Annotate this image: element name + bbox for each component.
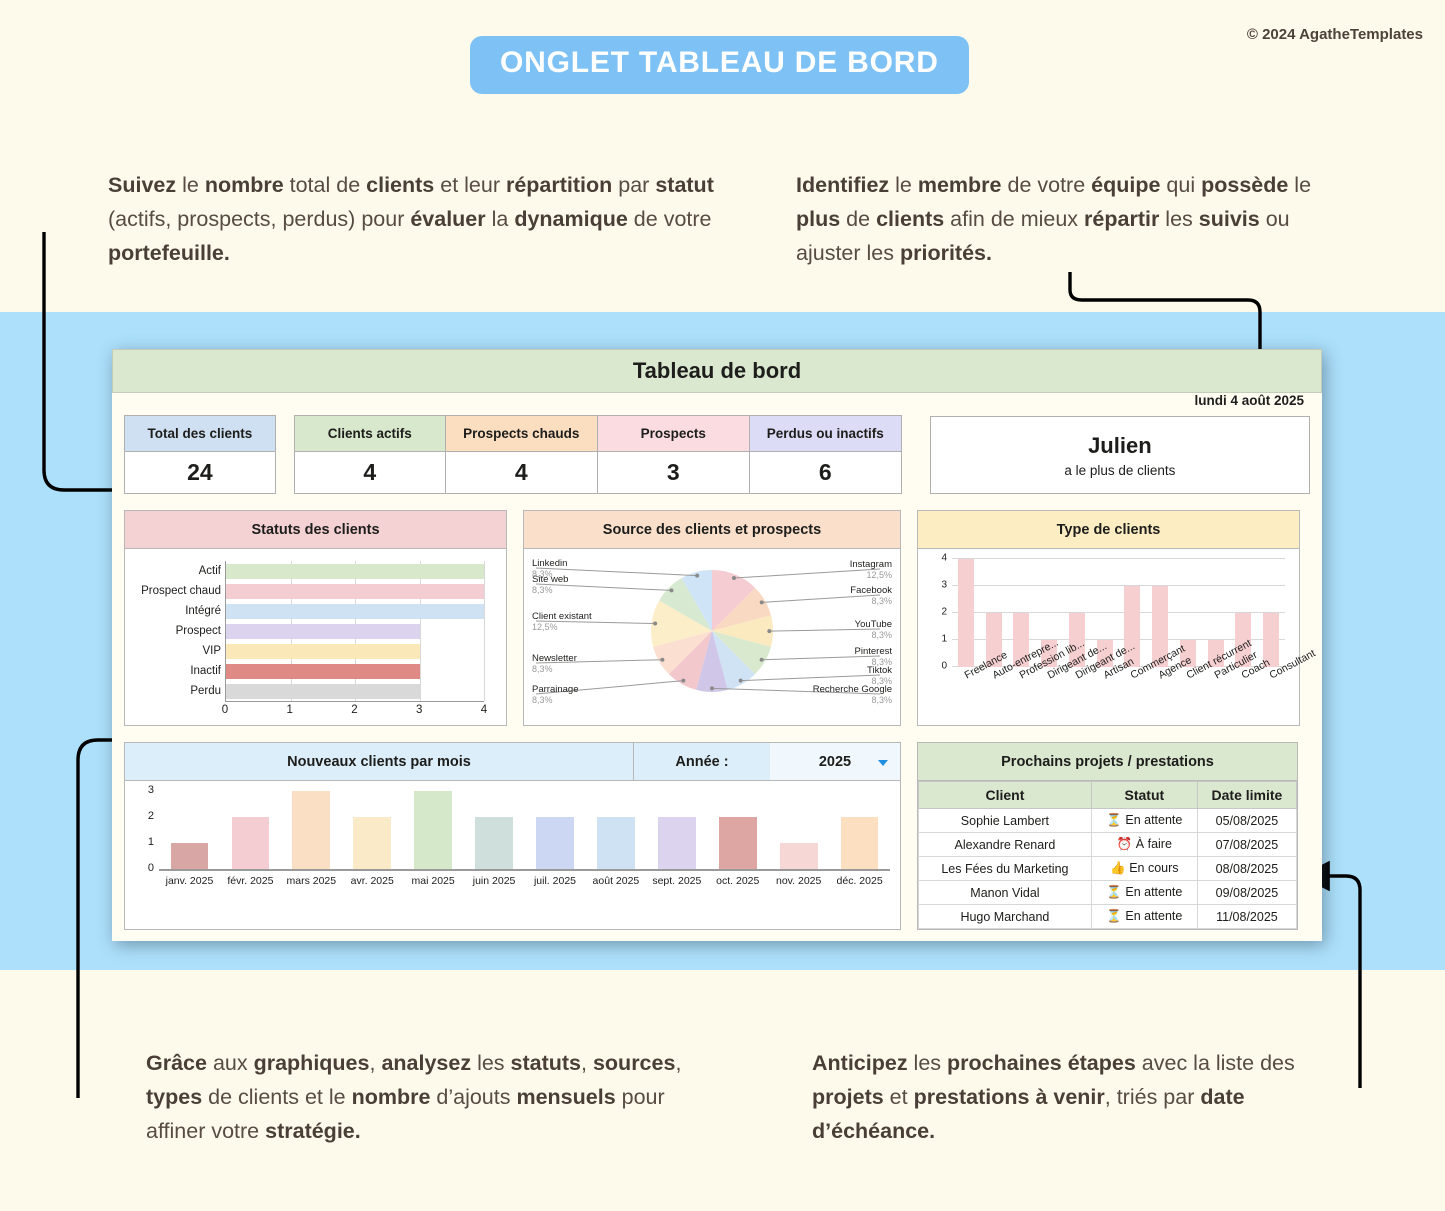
x-tick-label: mai 2025 xyxy=(403,871,464,891)
y-tick-label: 2 xyxy=(941,607,947,618)
status-icon: ⏰ xyxy=(1117,837,1136,851)
bar xyxy=(226,564,484,579)
panel-statuts-des-clients: Statuts des clients ActifProspect chaudI… xyxy=(124,510,507,726)
kpi-label: Prospects chauds xyxy=(446,416,597,452)
bar xyxy=(597,817,635,869)
pie-percent-label: 8,3% xyxy=(532,569,553,579)
bar-category-label: Intégré xyxy=(185,605,221,617)
x-tick-label: déc. 2025 xyxy=(829,871,890,891)
cell-statut: ⏳ En attente xyxy=(1091,881,1197,905)
column-slot xyxy=(525,791,586,869)
x-tick-label: 3 xyxy=(416,704,422,716)
gridline xyxy=(484,561,485,701)
bar xyxy=(226,664,420,679)
bar-row: Inactif xyxy=(226,661,484,681)
panel-title: Type de clients xyxy=(918,511,1299,549)
table-row[interactable]: Manon Vidal⏳ En attente09/08/2025 xyxy=(919,881,1297,905)
bar-category-label: Inactif xyxy=(190,665,221,677)
x-tick-label: oct. 2025 xyxy=(707,871,768,891)
pie-percent-label: 12,5% xyxy=(532,622,558,632)
projects-table: Client Statut Date limite Sophie Lambert… xyxy=(918,781,1297,929)
x-label-slot: Dirigeant de... xyxy=(1035,667,1063,723)
x-label-slot: Dirigeant de... xyxy=(1063,667,1091,723)
bar xyxy=(475,817,513,869)
x-tick-label: sept. 2025 xyxy=(646,871,707,891)
cell-date-limite: 07/08/2025 xyxy=(1197,833,1296,857)
x-label-slot: Client récurrent xyxy=(1174,667,1202,723)
pie-label: Instagram xyxy=(850,559,892,570)
x-tick-label: janv. 2025 xyxy=(159,871,220,891)
x-label-slot: Profession lib... xyxy=(1008,667,1036,723)
kpi-label: Total des clients xyxy=(125,416,275,452)
bar-row: Prospect chaud xyxy=(226,581,484,601)
x-tick-label: 2 xyxy=(351,704,357,716)
bar xyxy=(414,791,452,869)
kpi-label: Prospects xyxy=(598,416,749,452)
panel-prochains-projets: Prochains projets / prestations Client S… xyxy=(917,742,1298,930)
x-tick-label: août 2025 xyxy=(585,871,646,891)
bar xyxy=(536,817,574,869)
pie-label: Linkedin xyxy=(532,558,567,569)
kpi-value: 4 xyxy=(295,452,445,493)
pie-leader-dot xyxy=(681,679,685,683)
x-tick-label: 0 xyxy=(222,704,228,716)
month-plot-area: 0123 xyxy=(159,791,890,869)
y-tick-label: 2 xyxy=(148,810,154,822)
pie-leader-dot xyxy=(660,658,664,662)
y-tick-label: 3 xyxy=(148,784,154,796)
bar-category-label: Perdu xyxy=(190,685,221,697)
year-filter-dropdown[interactable]: 2025 xyxy=(770,743,900,780)
kpi-clients-actifs[interactable]: Clients actifs 4 xyxy=(294,415,446,494)
current-date-label: lundi 4 août 2025 xyxy=(1194,393,1304,408)
pie-leader-dot xyxy=(760,658,764,662)
pie-percent-label: 8,3% xyxy=(532,664,553,674)
table-row[interactable]: Alexandre Renard⏰ À faire07/08/2025 xyxy=(919,833,1297,857)
pie-leader-dot xyxy=(760,600,764,604)
cell-client: Les Fées du Marketing xyxy=(919,857,1092,881)
hbar-plot-area: ActifProspect chaudIntégréProspectVIPIna… xyxy=(225,561,484,701)
cell-statut: ⏰ À faire xyxy=(1091,833,1197,857)
kpi-value: 4 xyxy=(446,452,597,493)
bar xyxy=(780,843,818,869)
column-header-client: Client xyxy=(919,782,1092,809)
column-slot xyxy=(646,791,707,869)
kpi-value: 24 xyxy=(125,452,275,493)
pie-leader-line xyxy=(762,595,880,602)
x-tick-label: 1 xyxy=(287,704,293,716)
month-panel-header: Nouveaux clients par mois Année : 2025 xyxy=(125,743,900,781)
kpi-prospects-chauds[interactable]: Prospects chauds 4 xyxy=(446,415,598,494)
status-badge: En cours xyxy=(1129,861,1178,875)
bar xyxy=(658,817,696,869)
cell-client: Sophie Lambert xyxy=(919,809,1092,833)
status-badge: En attente xyxy=(1125,813,1182,827)
chart-statuts-des-clients: ActifProspect chaudIntégréProspectVIPIna… xyxy=(125,549,506,725)
top-performer-subtitle: a le plus de clients xyxy=(1064,463,1175,478)
x-label-slot: Agence xyxy=(1146,667,1174,723)
pie-leader-line xyxy=(734,569,880,578)
column-slot xyxy=(1257,559,1285,667)
kpi-prospects[interactable]: Prospects 3 xyxy=(598,415,750,494)
x-tick-label: mars 2025 xyxy=(281,871,342,891)
chevron-down-icon[interactable] xyxy=(878,760,888,766)
cell-client: Manon Vidal xyxy=(919,881,1092,905)
x-label-slot: Freelance xyxy=(952,667,980,723)
status-icon: ⏳ xyxy=(1106,909,1125,923)
page-title-badge: ONGLET TABLEAU DE BORD xyxy=(470,36,969,94)
x-tick-label: avr. 2025 xyxy=(342,871,403,891)
bar-category-label: VIP xyxy=(202,645,221,657)
column-slot xyxy=(952,559,980,667)
bar xyxy=(719,817,757,869)
column-slot xyxy=(768,791,829,869)
cell-client: Alexandre Renard xyxy=(919,833,1092,857)
kpi-label: Clients actifs xyxy=(295,416,445,452)
column-slot xyxy=(281,791,342,869)
pie-percent-label: 8,3% xyxy=(532,585,553,595)
pie-percent-label: 8,3% xyxy=(532,695,553,705)
bar xyxy=(958,559,974,667)
status-badge: À faire xyxy=(1136,837,1172,851)
bar-category-label: Prospect chaud xyxy=(141,585,221,597)
charts-row: Statuts des clients ActifProspect chaudI… xyxy=(124,510,1310,726)
column-slot xyxy=(464,791,525,869)
y-tick-label: 4 xyxy=(941,553,947,564)
panel-title: Prochains projets / prestations xyxy=(918,743,1297,781)
kpi-perdus-ou-inactifs[interactable]: Perdus ou inactifs 6 xyxy=(750,415,902,494)
kpi-group: Clients actifs 4 Prospects chauds 4 Pros… xyxy=(294,415,902,494)
cell-date-limite: 08/08/2025 xyxy=(1197,857,1296,881)
sheet-title: Tableau de bord xyxy=(112,349,1322,393)
pie-label: Client existant xyxy=(532,611,592,622)
copyright-notice: © 2024 AgatheTemplates xyxy=(1247,26,1423,43)
top-performer-card: lundi 4 août 2025 Julien a le plus de cl… xyxy=(930,416,1310,494)
x-tick-label: nov. 2025 xyxy=(768,871,829,891)
pie-leader-dot xyxy=(739,679,743,683)
bar xyxy=(226,624,420,639)
column-header-statut: Statut xyxy=(1091,782,1197,809)
top-performer-name: Julien xyxy=(1088,433,1152,459)
bar xyxy=(841,817,879,869)
column-slot xyxy=(829,791,890,869)
y-tick-label: 3 xyxy=(941,580,947,591)
panel-title: Source des clients et prospects xyxy=(524,511,900,549)
pie-label: YouTube xyxy=(855,619,892,630)
column-slot xyxy=(585,791,646,869)
month-x-axis: janv. 2025févr. 2025mars 2025avr. 2025ma… xyxy=(159,869,890,891)
year-filter-value: 2025 xyxy=(819,754,851,770)
pie-leader-dot xyxy=(669,588,673,592)
hbar-x-axis: 01234 xyxy=(225,701,484,719)
pie-label: Pinterest xyxy=(855,646,893,657)
column-slot xyxy=(342,791,403,869)
annotation-top-left: Suivez le nombre total de clients et leu… xyxy=(108,168,728,270)
cell-date-limite: 11/08/2025 xyxy=(1197,905,1296,929)
column-slot xyxy=(403,791,464,869)
pie-label: Parrainage xyxy=(532,684,578,695)
x-tick-label: juil. 2025 xyxy=(525,871,586,891)
cell-date-limite: 05/08/2025 xyxy=(1197,809,1296,833)
table-row[interactable]: Hugo Marchand⏳ En attente11/08/2025 xyxy=(919,905,1297,929)
status-badge: En attente xyxy=(1125,909,1182,923)
x-label-slot: Consultant xyxy=(1257,667,1285,723)
pie-percent-label: 12,5% xyxy=(866,570,892,580)
table-header-row: Client Statut Date limite xyxy=(919,782,1297,809)
status-badge: En attente xyxy=(1125,885,1182,899)
status-icon: 👍 xyxy=(1110,861,1129,875)
dashboard-sheet: Tableau de bord Total des clients 24 Cli… xyxy=(112,349,1322,941)
annotation-top-right: Identifiez le membre de votre équipe qui… xyxy=(796,168,1316,270)
y-tick-label: 0 xyxy=(941,661,947,672)
panel-source-des-clients: Source des clients et prospects Instagra… xyxy=(523,510,901,726)
column-slot xyxy=(159,791,220,869)
kpi-total-des-clients[interactable]: Total des clients 24 xyxy=(124,415,276,494)
panel-nouveaux-clients-par-mois: Nouveaux clients par mois Année : 2025 0… xyxy=(124,742,901,930)
pie-label: Recherche Google xyxy=(813,684,892,695)
x-tick-label: févr. 2025 xyxy=(220,871,281,891)
column-slot xyxy=(707,791,768,869)
cell-client: Hugo Marchand xyxy=(919,905,1092,929)
bar xyxy=(226,604,484,619)
annotation-bottom-right: Anticipez les prochaines étapes avec la … xyxy=(812,1046,1352,1148)
kpi-value: 6 xyxy=(750,452,901,493)
type-x-labels: FreelanceAuto-entrepre...Profession lib.… xyxy=(952,667,1285,723)
pie-leader-dot xyxy=(767,629,771,633)
cell-statut: 👍 En cours xyxy=(1091,857,1197,881)
bar xyxy=(292,791,330,869)
pie-leader-dot xyxy=(710,686,714,690)
column-header-date-limite: Date limite xyxy=(1197,782,1296,809)
pie-percent-label: 8,3% xyxy=(871,695,892,705)
y-tick-label: 0 xyxy=(148,862,154,874)
table-row[interactable]: Les Fées du Marketing👍 En cours08/08/202… xyxy=(919,857,1297,881)
projects-table-body: Sophie Lambert⏳ En attente05/08/2025Alex… xyxy=(919,809,1297,929)
pie-percent-label: 8,3% xyxy=(871,630,892,640)
column-slot xyxy=(220,791,281,869)
panel-title: Nouveaux clients par mois xyxy=(125,743,634,780)
panel-type-de-clients: Type de clients 01234 FreelanceAuto-entr… xyxy=(917,510,1300,726)
pie-label: Newsletter xyxy=(532,653,577,664)
bar-row: VIP xyxy=(226,641,484,661)
chart-nouveaux-clients-par-mois: 0123 janv. 2025févr. 2025mars 2025avr. 2… xyxy=(125,781,900,897)
bar xyxy=(226,584,484,599)
kpi-label: Perdus ou inactifs xyxy=(750,416,901,452)
table-row[interactable]: Sophie Lambert⏳ En attente05/08/2025 xyxy=(919,809,1297,833)
x-label-slot: Particulier xyxy=(1202,667,1230,723)
annotation-bottom-left: Grâce aux graphiques, analysez les statu… xyxy=(146,1046,716,1148)
chart-source-des-clients: Instagram12,5%Facebook8,3%YouTube8,3%Pin… xyxy=(524,549,900,725)
kpi-row: Total des clients 24 Clients actifs 4 Pr… xyxy=(124,415,1310,494)
pie-label: Facebook xyxy=(850,585,892,596)
bar-row: Actif xyxy=(226,561,484,581)
x-tick-label: 4 xyxy=(481,704,487,716)
cell-statut: ⏳ En attente xyxy=(1091,809,1197,833)
pie-leader-line xyxy=(741,675,880,681)
bar xyxy=(232,817,270,869)
x-label-slot: Auto-entrepre... xyxy=(980,667,1008,723)
x-label-slot: Artisan xyxy=(1091,667,1119,723)
status-icon: ⏳ xyxy=(1106,813,1125,827)
pie-chart-svg: Instagram12,5%Facebook8,3%YouTube8,3%Pin… xyxy=(524,549,900,725)
kpi-value: 3 xyxy=(598,452,749,493)
bar-row: Intégré xyxy=(226,601,484,621)
y-tick-label: 1 xyxy=(148,836,154,848)
bar xyxy=(171,843,209,869)
chart-type-de-clients: 01234 FreelanceAuto-entrepre...Professio… xyxy=(918,549,1299,725)
panel-title: Statuts des clients xyxy=(125,511,506,549)
bottom-row: Nouveaux clients par mois Année : 2025 0… xyxy=(124,742,1310,930)
bar-category-label: Prospect xyxy=(176,625,221,637)
pie-leader-dot xyxy=(695,574,699,578)
x-tick-label: juin 2025 xyxy=(464,871,525,891)
bar xyxy=(226,684,420,699)
bar-category-label: Actif xyxy=(199,565,221,577)
bar-row: Prospect xyxy=(226,621,484,641)
status-icon: ⏳ xyxy=(1106,885,1125,899)
bar-row: Perdu xyxy=(226,681,484,701)
pie-leader-dot xyxy=(653,622,657,626)
x-label-slot: Coach xyxy=(1230,667,1258,723)
pie-label: Tiktok xyxy=(867,665,892,676)
bar xyxy=(226,644,420,659)
year-filter-label: Année : xyxy=(634,743,770,780)
pie-percent-label: 8,3% xyxy=(871,596,892,606)
bar xyxy=(353,817,391,869)
cell-statut: ⏳ En attente xyxy=(1091,905,1197,929)
x-label-slot: Commerçant xyxy=(1119,667,1147,723)
pie-leader-dot xyxy=(732,576,736,580)
y-tick-label: 1 xyxy=(941,634,947,645)
cell-date-limite: 09/08/2025 xyxy=(1197,881,1296,905)
